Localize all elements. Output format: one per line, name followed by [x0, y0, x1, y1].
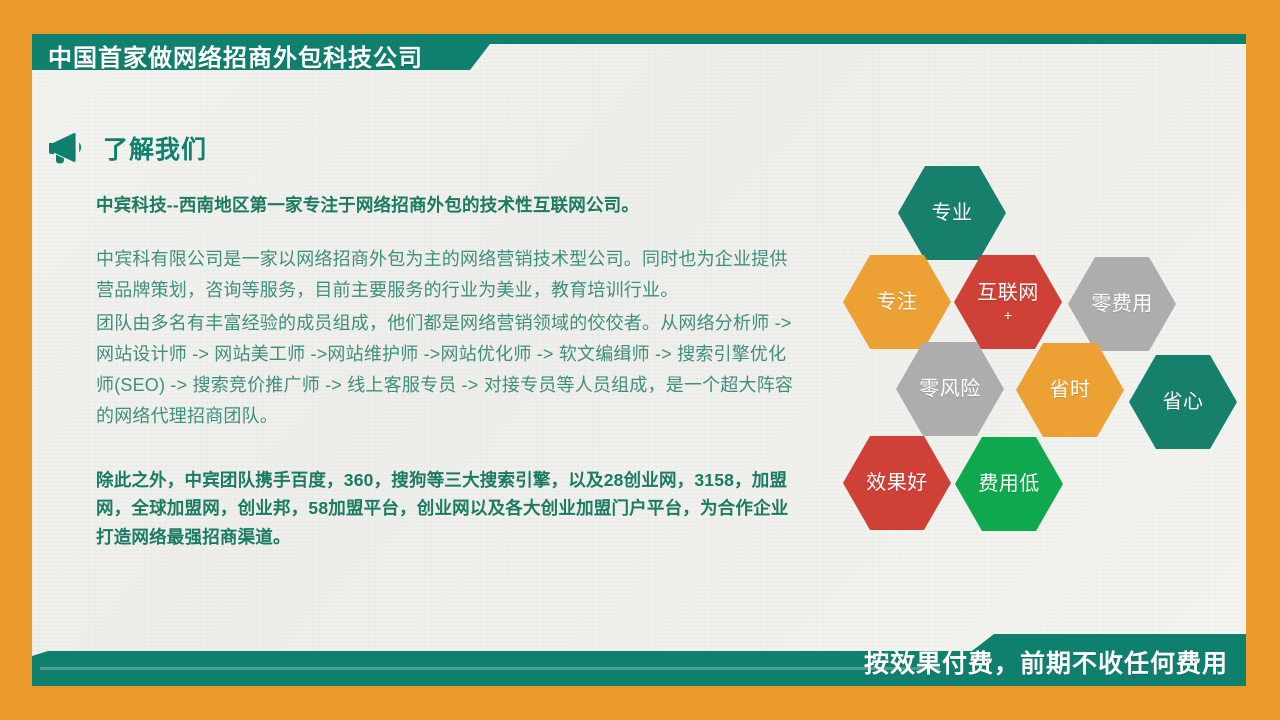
hexagon-label: 零费用 [1091, 293, 1153, 315]
footer-bar: 按效果付费，前期不收任何费用 [32, 634, 1246, 686]
hexagon-label: 效果好 [866, 472, 928, 494]
section-heading: 了解我们 [45, 130, 207, 166]
megaphone-icon [45, 131, 85, 165]
paragraph-company-intro: 中宾科有限公司是一家以网络招商外包为主的网络营销技术型公司。同时也为企业提供营品… [96, 244, 796, 306]
header-bar: 中国首家做网络招商外包科技公司 [32, 34, 1246, 74]
footer-accent-line [40, 667, 940, 670]
hexagon-sublabel: + [1004, 308, 1012, 322]
hexagon-label: 专注 [877, 291, 918, 313]
paragraph-team-intro: 团队由多名有丰富经验的成员组成，他们都是网络营销领域的佼佼者。从网络分析师 ->… [96, 308, 796, 432]
page-title: 中国首家做网络招商外包科技公司 [48, 38, 423, 73]
hexagon-label: 省时 [1050, 379, 1091, 401]
hexagon-label: 费用低 [978, 473, 1040, 495]
slide-canvas: 中国首家做网络招商外包科技公司 了解我们 中宾科技--西南地区第一家专注于网络招… [0, 0, 1280, 720]
paragraph-partners: 除此之外，中宾团队携手百度，360，搜狗等三大搜索引擎，以及28创业网，3158… [96, 466, 796, 551]
hexagon-label: 互联网 [977, 282, 1039, 304]
hexagon-label: 专业 [932, 202, 973, 224]
section-title: 了解我们 [103, 130, 207, 166]
hexagon-label: 零风险 [919, 378, 981, 400]
lead-statement: 中宾科技--西南地区第一家专注于网络招商外包的技术性互联网公司。 [96, 192, 796, 218]
about-text-column: 中宾科技--西南地区第一家专注于网络招商外包的技术性互联网公司。 中宾科有限公司… [96, 192, 796, 551]
footer-slogan: 按效果付费，前期不收任何费用 [864, 644, 1228, 680]
hexagon-label: 省心 [1163, 391, 1204, 413]
